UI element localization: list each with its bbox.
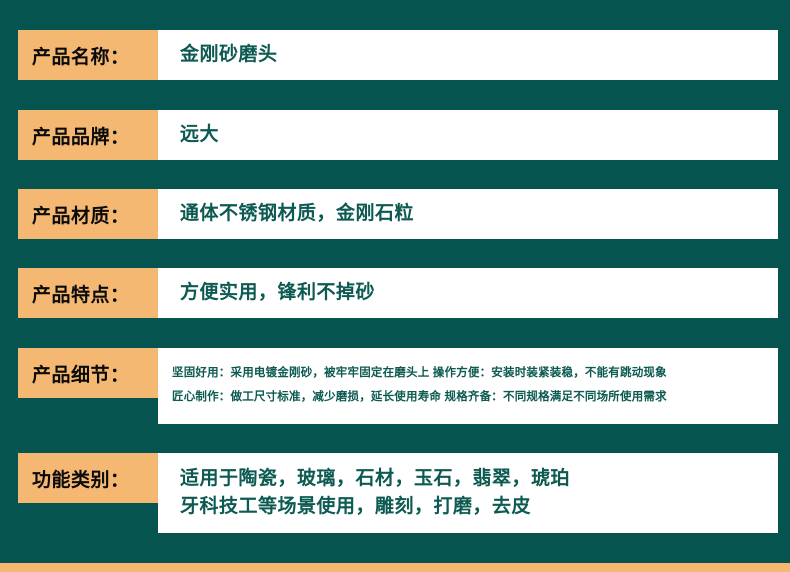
spec-value-product-detail: 坚固好用：采用电镀金刚砂，被牢牢固定在磨头上 操作方便：安装时装紧装稳，不能有跳… bbox=[158, 348, 778, 424]
spec-value-product-feature: 方便实用，锋利不掉砂 bbox=[158, 268, 778, 318]
spec-row-function-category: 功能类别： 适用于陶瓷，玻璃，石材，玉石，翡翠，琥珀 牙科技工等场景使用，雕刻，… bbox=[18, 453, 778, 533]
spec-label-product-detail: 产品细节： bbox=[18, 348, 158, 398]
spec-label-function-category: 功能类别： bbox=[18, 453, 158, 503]
spec-value-line: 通体不锈钢材质，金刚石粒 bbox=[180, 201, 764, 227]
spec-label-product-brand: 产品品牌： bbox=[18, 110, 158, 160]
product-spec-sheet: 产品名称： 金刚砂磨头 产品品牌： 远大 产品材质： 通体不锈钢材质，金刚石粒 … bbox=[0, 0, 790, 572]
spec-label-product-material: 产品材质： bbox=[18, 189, 158, 239]
spec-value-line: 远大 bbox=[180, 122, 764, 148]
spec-row-product-detail: 产品细节： 坚固好用：采用电镀金刚砂，被牢牢固定在磨头上 操作方便：安装时装紧装… bbox=[18, 348, 778, 424]
bottom-accent-bar bbox=[0, 563, 790, 572]
spec-value-line: 金刚砂磨头 bbox=[180, 42, 764, 68]
spec-value-function-category: 适用于陶瓷，玻璃，石材，玉石，翡翠，琥珀 牙科技工等场景使用，雕刻，打磨，去皮 bbox=[158, 453, 778, 533]
spec-label-product-feature: 产品特点： bbox=[18, 268, 158, 318]
spec-value-line: 方便实用，锋利不掉砂 bbox=[180, 280, 764, 306]
spec-label-product-name: 产品名称： bbox=[18, 30, 158, 80]
spec-value-line: 匠心制作：做工尺寸标准，减少磨损，延长使用寿命 规格齐备：不同规格满足不同场所使… bbox=[172, 387, 764, 409]
spec-value-line: 适用于陶瓷，玻璃，石材，玉石，翡翠，琥珀 bbox=[180, 465, 764, 493]
spec-row-product-feature: 产品特点： 方便实用，锋利不掉砂 bbox=[18, 268, 778, 318]
spec-value-line: 牙科技工等场景使用，雕刻，打磨，去皮 bbox=[180, 493, 764, 521]
spec-value-line: 坚固好用：采用电镀金刚砂，被牢牢固定在磨头上 操作方便：安装时装紧装稳，不能有跳… bbox=[172, 363, 764, 385]
spec-value-product-material: 通体不锈钢材质，金刚石粒 bbox=[158, 189, 778, 239]
spec-value-product-name: 金刚砂磨头 bbox=[158, 30, 778, 80]
spec-row-product-name: 产品名称： 金刚砂磨头 bbox=[18, 30, 778, 80]
spec-row-product-brand: 产品品牌： 远大 bbox=[18, 110, 778, 160]
spec-row-product-material: 产品材质： 通体不锈钢材质，金刚石粒 bbox=[18, 189, 778, 239]
spec-value-product-brand: 远大 bbox=[158, 110, 778, 160]
